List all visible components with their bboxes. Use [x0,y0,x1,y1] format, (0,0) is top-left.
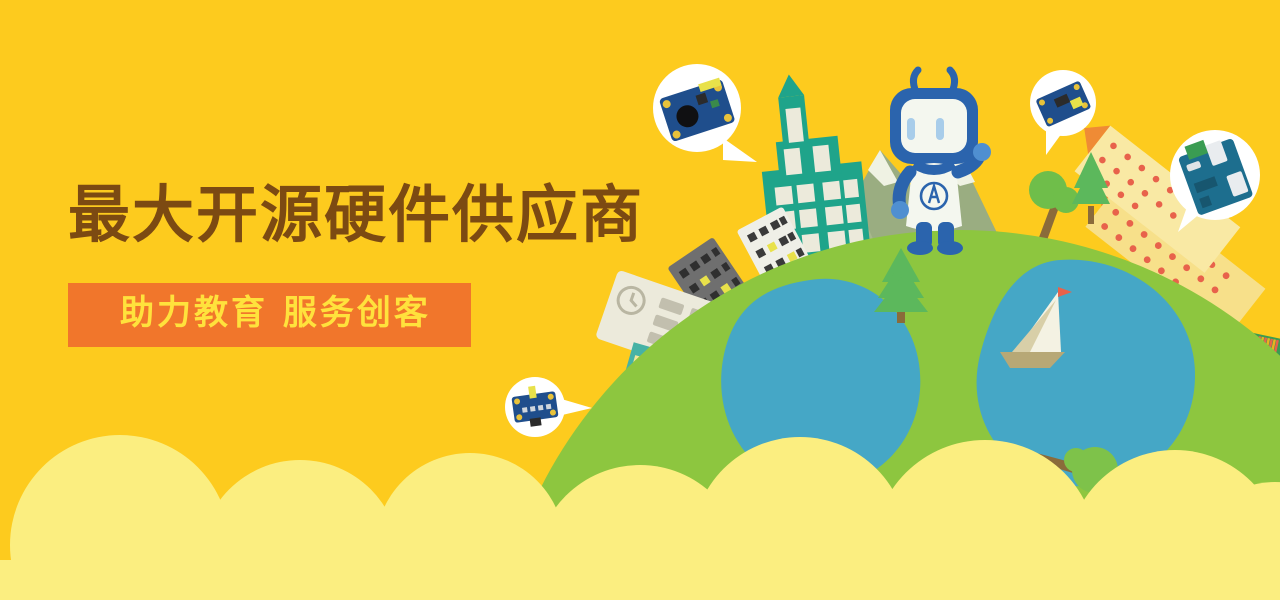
page-title: 最大开源硬件供应商 [68,180,688,249]
tagline-text: 助力教育 服务创客 [120,295,431,332]
hero-banner: 最大开源硬件供应商 助力教育 服务创客 [0,0,1280,600]
tagline-badge: 助力教育 服务创客 [68,283,471,346]
banner-text-block: 最大开源硬件供应商 助力教育 服务创客 [68,180,688,347]
